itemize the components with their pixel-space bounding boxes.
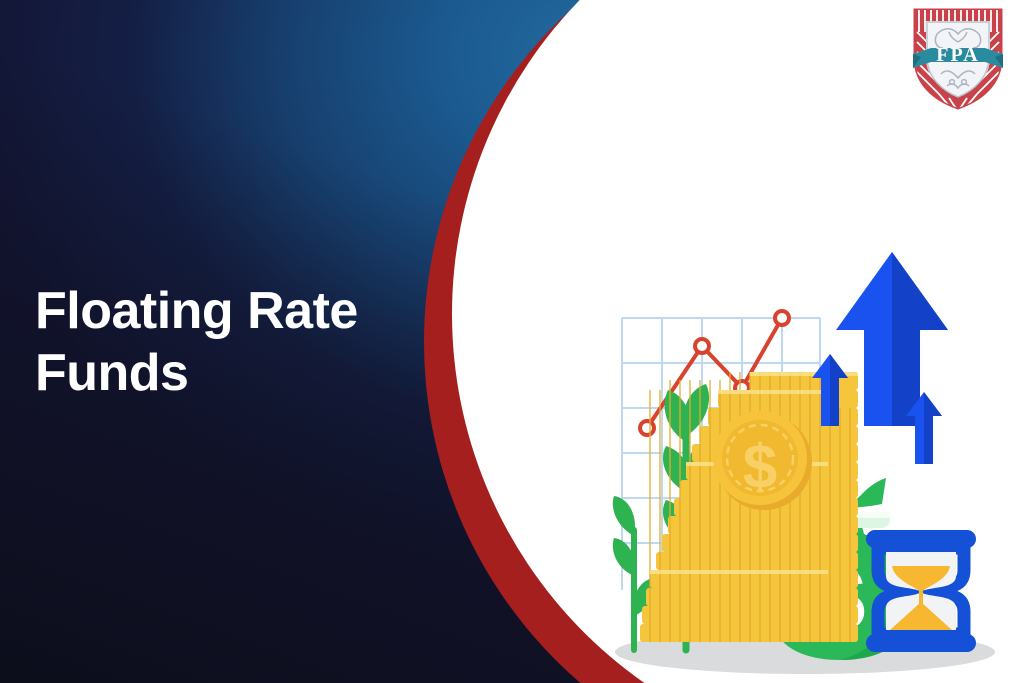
page-title: Floating Rate Funds	[35, 281, 465, 405]
fpa-shield-logo[interactable]: FPA	[903, 2, 1013, 114]
chart-point	[695, 339, 709, 353]
chart-point	[775, 311, 789, 325]
coin-dollar-sign: $	[743, 433, 777, 502]
marketing-banner: Floating Rate Funds	[0, 0, 1024, 683]
chart-point	[640, 421, 654, 435]
finance-growth-illustration: $	[590, 230, 1000, 675]
logo-text: FPA	[936, 44, 979, 66]
